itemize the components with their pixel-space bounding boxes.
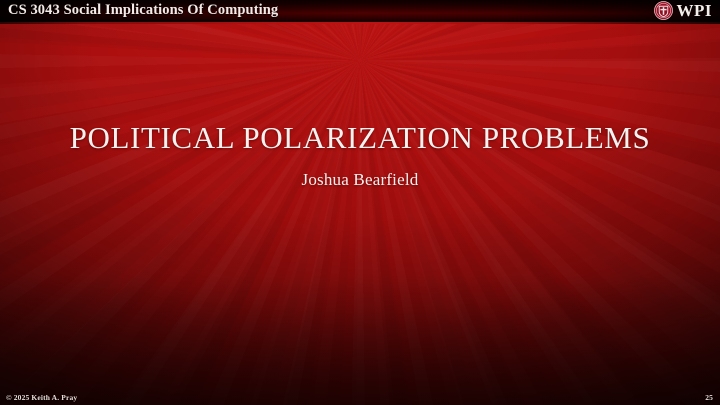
slide-footer: © 2025 Keith A. Pray 25 bbox=[0, 387, 720, 405]
slide-title: POLITICAL POLARIZATION PROBLEMS bbox=[0, 120, 720, 156]
wpi-seal-icon bbox=[654, 1, 673, 20]
course-title: CS 3043 Social Implications Of Computing bbox=[8, 2, 278, 19]
slide-content: POLITICAL POLARIZATION PROBLEMS Joshua B… bbox=[0, 120, 720, 190]
slide-subtitle-author: Joshua Bearfield bbox=[0, 170, 720, 190]
copyright-notice: © 2025 Keith A. Pray bbox=[6, 393, 77, 402]
wpi-wordmark: WPI bbox=[677, 1, 713, 20]
presentation-slide: CS 3043 Social Implications Of Computing… bbox=[0, 0, 720, 405]
slide-header-bar: CS 3043 Social Implications Of Computing bbox=[0, 0, 720, 24]
slide-page-number: 25 bbox=[705, 393, 713, 402]
wpi-logo: WPI bbox=[654, 1, 713, 20]
background-bottom-fade bbox=[0, 275, 720, 405]
